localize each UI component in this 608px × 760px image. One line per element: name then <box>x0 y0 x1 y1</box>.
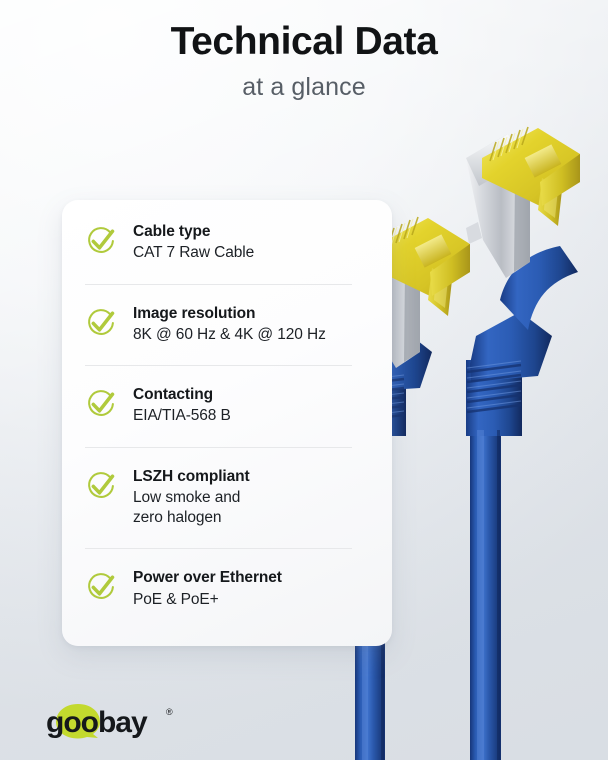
spec-row-power-over-ethernet: Power over Ethernet PoE & PoE+ <box>62 548 392 634</box>
check-circle-icon <box>84 467 130 503</box>
check-circle-icon <box>84 385 130 421</box>
header: Technical Data at a glance <box>0 22 608 100</box>
spec-texts: Cable type CAT 7 Raw Cable <box>130 222 374 264</box>
goobay-logo: goobay ® <box>44 700 194 740</box>
rj45-cable-right <box>466 127 580 760</box>
row-divider <box>85 284 352 285</box>
spec-row-lszh-compliant: LSZH compliant Low smoke and zero haloge… <box>62 447 392 549</box>
spec-texts: Image resolution 8K @ 60 Hz & 4K @ 120 H… <box>130 304 374 346</box>
spec-row-contacting: Contacting EIA/TIA-568 B <box>62 365 392 447</box>
logo-wordmark: goobay <box>46 706 148 739</box>
page-title: Technical Data <box>0 22 608 63</box>
row-divider <box>85 365 352 366</box>
logo-trademark: ® <box>166 707 173 717</box>
spec-value: 8K @ 60 Hz & 4K @ 120 Hz <box>133 325 374 345</box>
spec-title: Power over Ethernet <box>133 568 374 587</box>
spec-title: LSZH compliant <box>133 467 374 486</box>
check-circle-icon <box>84 568 130 604</box>
row-divider <box>85 447 352 448</box>
spec-texts: LSZH compliant Low smoke and zero haloge… <box>130 467 374 529</box>
spec-value: PoE & PoE+ <box>133 590 374 610</box>
row-divider <box>85 548 352 549</box>
spec-row-cable-type: Cable type CAT 7 Raw Cable <box>62 200 392 284</box>
spec-texts: Contacting EIA/TIA-568 B <box>130 385 374 427</box>
spec-card: Cable type CAT 7 Raw Cable Image resolut… <box>62 200 392 646</box>
spec-row-image-resolution: Image resolution 8K @ 60 Hz & 4K @ 120 H… <box>62 284 392 366</box>
spec-value: CAT 7 Raw Cable <box>133 243 374 263</box>
spec-texts: Power over Ethernet PoE & PoE+ <box>130 568 374 610</box>
spec-title: Contacting <box>133 385 374 404</box>
check-circle-icon <box>84 222 130 258</box>
infographic-canvas: Technical Data at a glance <box>0 0 608 760</box>
spec-title: Image resolution <box>133 304 374 323</box>
check-circle-icon <box>84 304 130 340</box>
spec-title: Cable type <box>133 222 374 241</box>
spec-list: Cable type CAT 7 Raw Cable Image resolut… <box>62 200 392 634</box>
spec-value: EIA/TIA-568 B <box>133 406 374 426</box>
page-subtitle: at a glance <box>0 74 608 100</box>
spec-value: Low smoke and zero halogen <box>133 488 374 528</box>
